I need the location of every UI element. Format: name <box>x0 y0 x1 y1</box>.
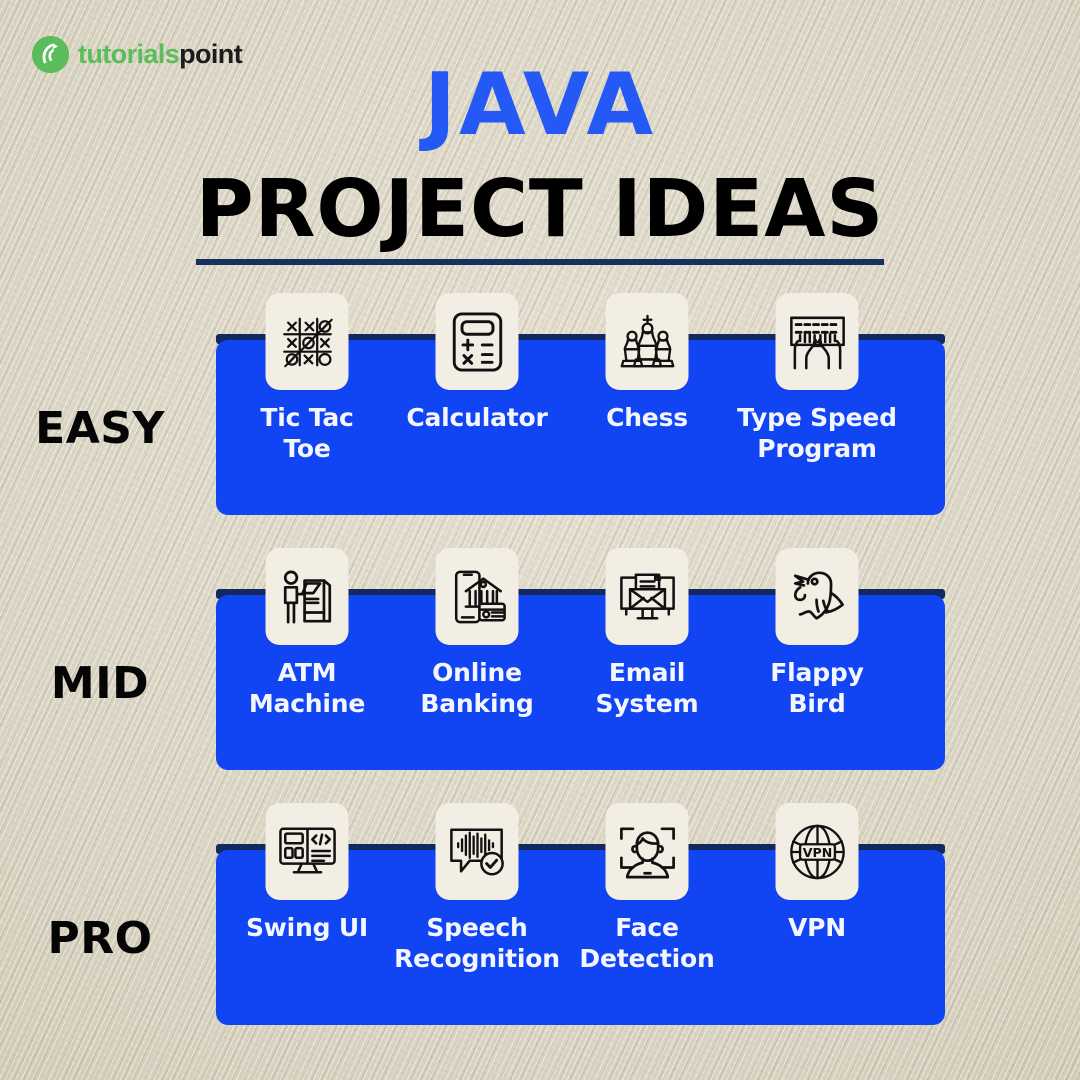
calculator-icon <box>436 293 519 390</box>
poster-title: JAVA PROJECT IDEAS <box>0 62 1080 265</box>
title-line-project-ideas: PROJECT IDEAS <box>196 170 885 265</box>
typing-keyboard-icon <box>776 293 859 390</box>
ui-code-monitor-icon <box>266 803 349 900</box>
atm-machine-icon <box>266 548 349 645</box>
difficulty-row-mid: MID ATM Machine <box>0 540 1080 780</box>
difficulty-row-pro: PRO Swing UI <box>0 795 1080 1035</box>
chess-pieces-icon <box>606 293 689 390</box>
difficulty-row-easy: EASY <box>0 285 1080 525</box>
row-cells-pro: Swing UI Speech Recognition <box>216 795 945 1035</box>
project-card-vpn[interactable]: VPN VPN <box>726 795 908 1035</box>
row-label-pro: PRO <box>0 913 208 964</box>
face-detection-icon <box>606 803 689 900</box>
svg-text:VPN: VPN <box>802 844 831 859</box>
bird-icon <box>776 548 859 645</box>
vpn-globe-icon: VPN <box>776 803 859 900</box>
email-monitor-icon <box>606 548 689 645</box>
project-card-type-speed[interactable]: Type Speed Program <box>726 285 908 525</box>
tic-tac-toe-icon <box>266 293 349 390</box>
mobile-banking-icon <box>436 548 519 645</box>
title-line-java: JAVA <box>0 62 1080 148</box>
project-card-flappy-bird[interactable]: Flappy Bird <box>726 540 908 780</box>
speech-waveform-icon <box>436 803 519 900</box>
row-cells-mid: ATM Machine Online Banking <box>216 540 945 780</box>
row-label-mid: MID <box>0 658 208 709</box>
row-cells-easy: Tic Tac Toe Calculator <box>216 285 945 525</box>
row-label-easy: EASY <box>0 403 208 454</box>
project-label: VPN <box>710 913 924 944</box>
project-label: Type Speed Program <box>710 403 924 464</box>
project-label: Flappy Bird <box>710 658 924 719</box>
